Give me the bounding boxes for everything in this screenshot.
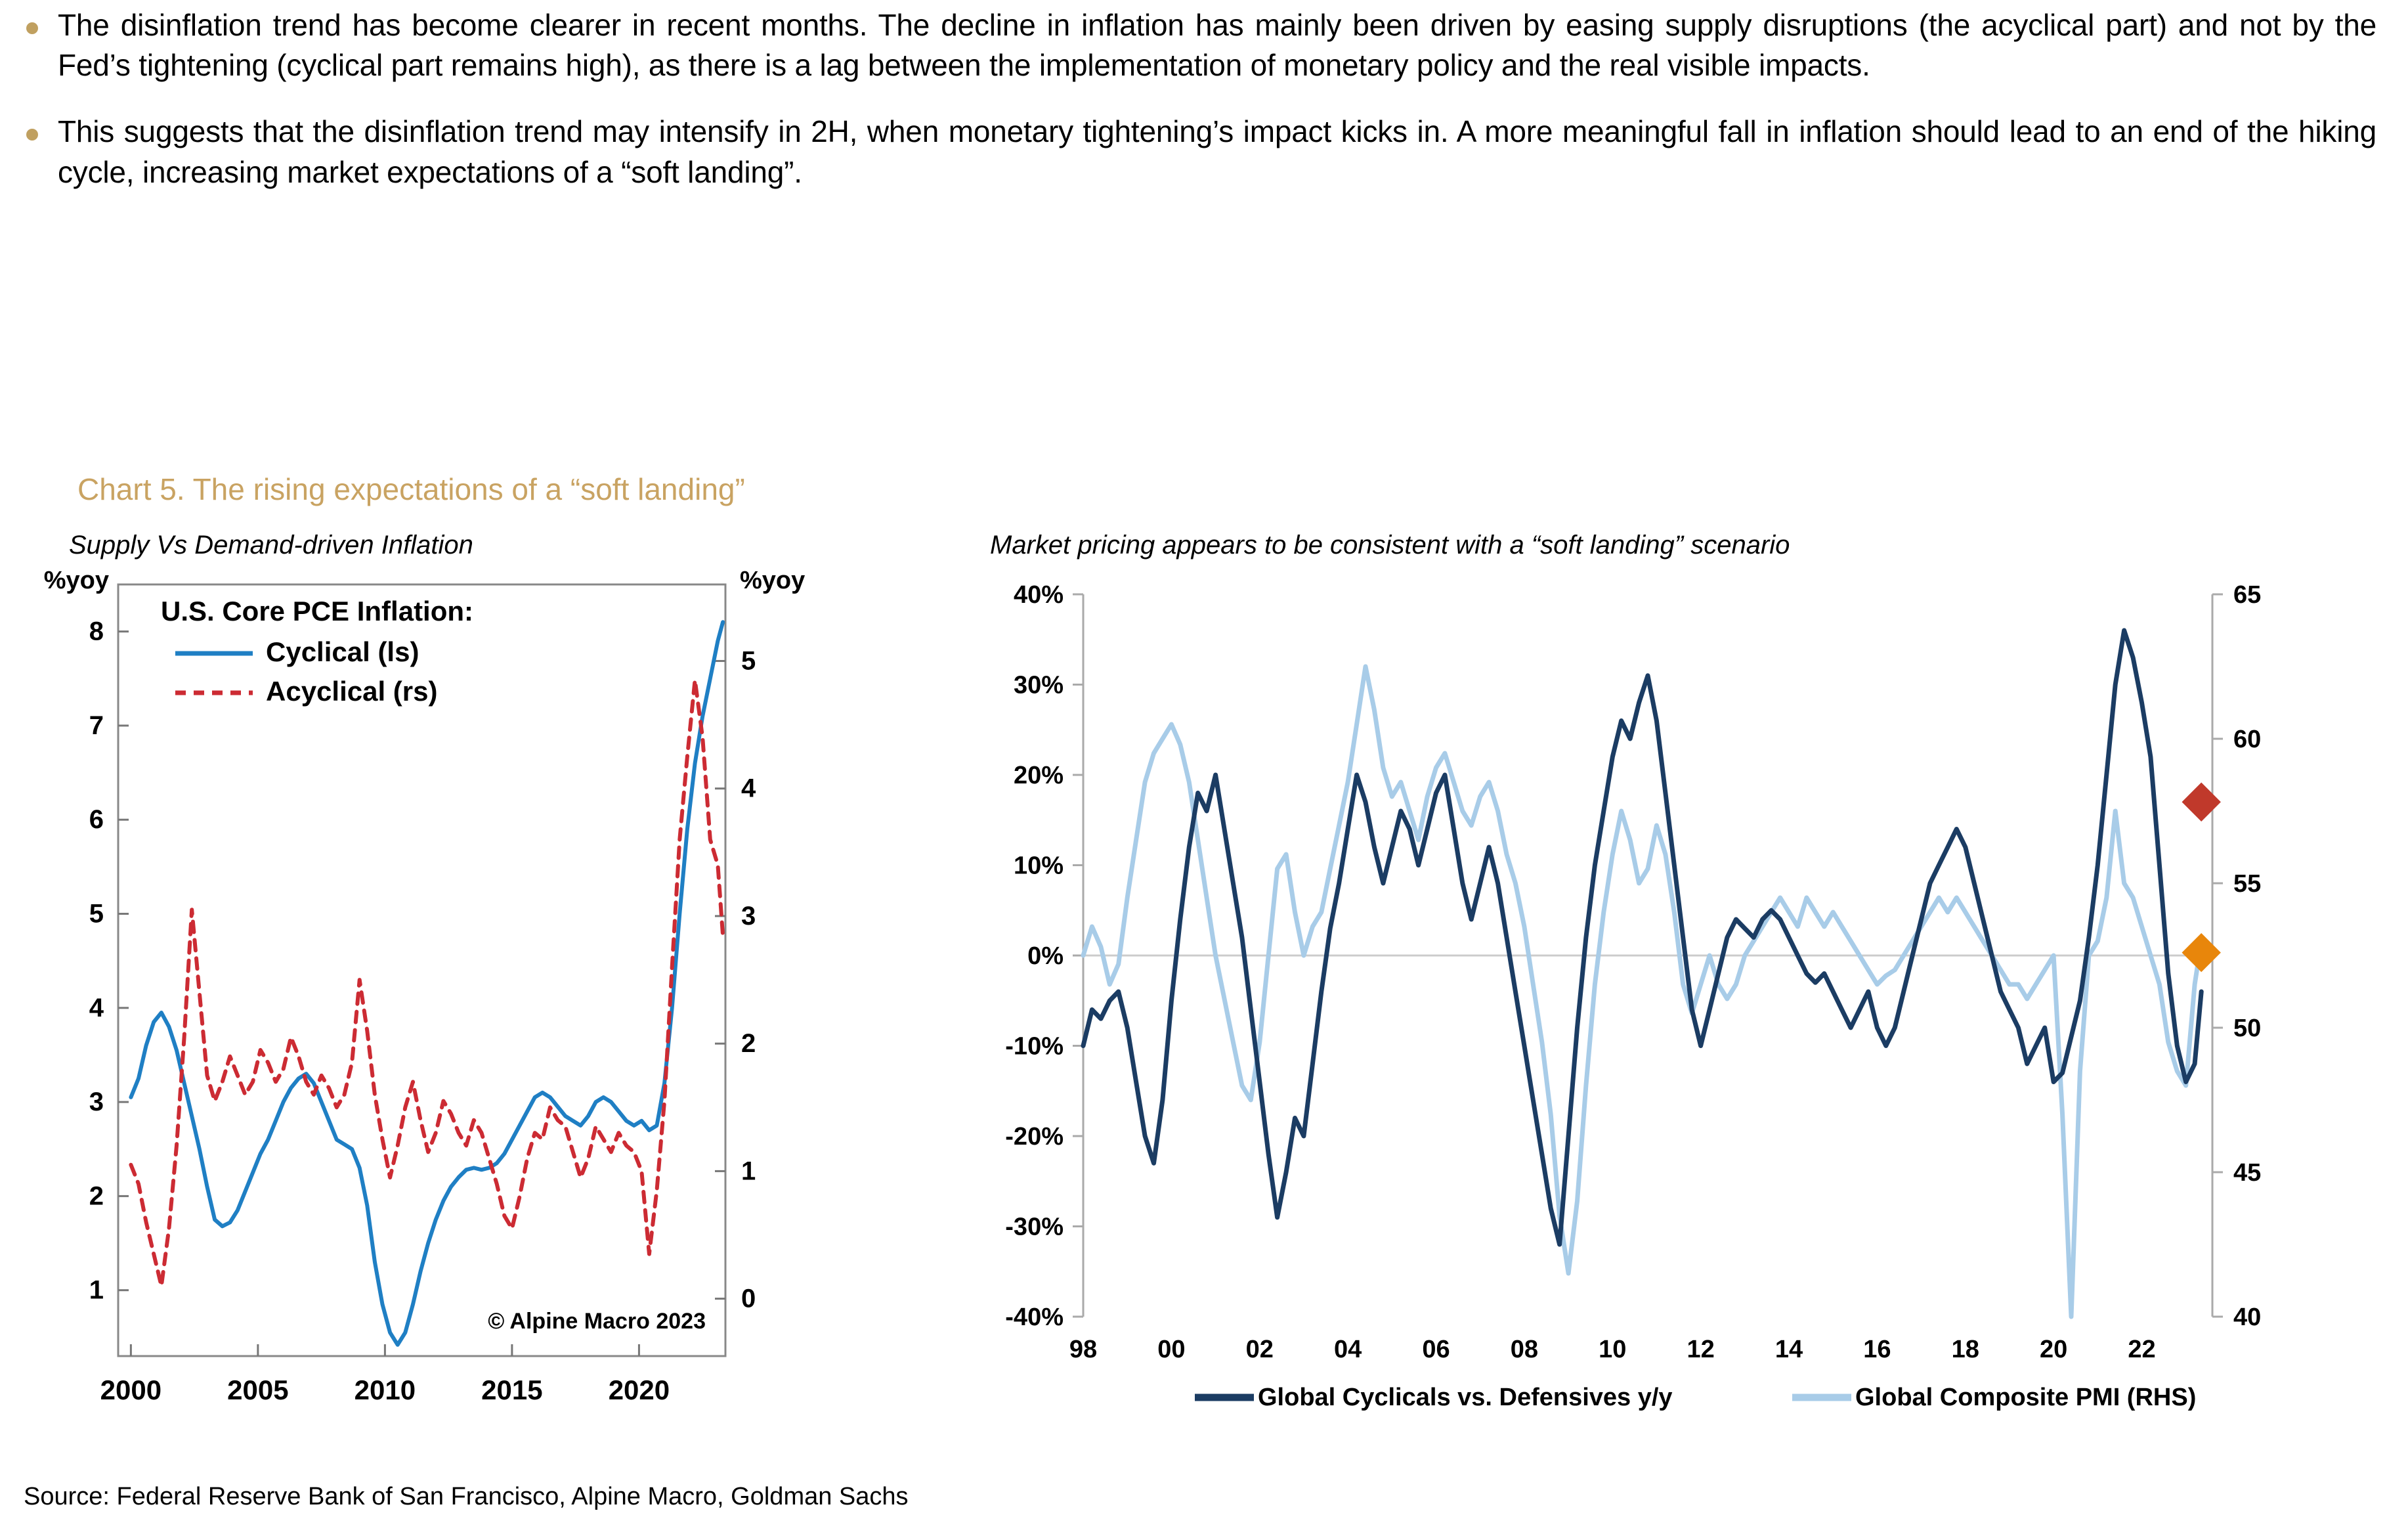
x-axis-tick-label: 10: [1599, 1336, 1626, 1363]
x-axis-tick-label: 2005: [227, 1374, 288, 1405]
x-axis-tick-label: 06: [1422, 1336, 1450, 1363]
legend-label-1: Global Composite PMI (RHS): [1855, 1384, 2196, 1411]
y-axis-tick-label: -40%: [1005, 1304, 1064, 1331]
bullet-text: This suggests that the disinflation tren…: [58, 112, 2376, 192]
y2-axis-tick-label: 1: [741, 1156, 756, 1185]
y-axis-tick-label: 40%: [1014, 581, 1064, 609]
pmi-latest-marker: [2182, 933, 2221, 972]
y2-axis-tick-label: 40: [2233, 1304, 2261, 1331]
y2-axis-tick-label: 55: [2233, 870, 2261, 898]
bullet-text: The disinflation trend has become cleare…: [58, 5, 2376, 85]
legend-label-1: Acyclical (rs): [266, 676, 437, 707]
y2-axis-tick-label: 0: [741, 1284, 756, 1313]
y2-axis-tick-label: 50: [2233, 1015, 2261, 1042]
series-line-1: [1083, 667, 2201, 1317]
y-axis-tick-label: 10%: [1014, 852, 1064, 880]
right-chart: -40%-30%-20%-10%0%10%20%30%40%4045505560…: [919, 578, 2363, 1432]
x-axis-tick-label: 22: [2128, 1336, 2155, 1363]
series-line-0: [1083, 630, 2201, 1244]
x-axis-tick-label: 02: [1246, 1336, 1274, 1363]
y-axis-tick-label: 3: [89, 1087, 104, 1116]
y-axis-tick-label: 1: [89, 1276, 104, 1305]
x-axis-tick-label: 2010: [355, 1374, 416, 1405]
x-axis-tick-label: 2000: [100, 1374, 161, 1405]
y-axis-tick-label: 20%: [1014, 762, 1064, 789]
x-axis-tick-label: 18: [1952, 1336, 1979, 1363]
bullet-marker-icon: [26, 22, 38, 34]
bullet-marker-icon: [26, 129, 38, 141]
y-axis-tick-label: -30%: [1005, 1214, 1064, 1241]
y2-axis-tick-label: 4: [741, 774, 756, 803]
x-axis-tick-label: 04: [1334, 1336, 1362, 1363]
y-axis-tick-label: -20%: [1005, 1123, 1064, 1151]
x-axis-tick-label: 12: [1687, 1336, 1714, 1363]
left-panel-subtitle: Supply Vs Demand-driven Inflation: [69, 531, 473, 560]
x-axis-tick-label: 2020: [609, 1374, 670, 1405]
y2-axis-tick-label: 3: [741, 902, 756, 931]
bullet-list: The disinflation trend has become cleare…: [26, 5, 2376, 219]
y-axis-tick-label: 4: [89, 994, 104, 1022]
y2-axis-unit-label: %yoy: [740, 567, 805, 594]
left-chart: 1234567801234520002005201020152020%yoy%y…: [20, 565, 886, 1445]
y-axis-tick-label: 2: [89, 1181, 104, 1210]
x-axis-tick-label: 14: [1775, 1336, 1803, 1363]
x-axis-tick-label: 16: [1863, 1336, 1891, 1363]
y-axis-tick-label: 7: [89, 711, 104, 740]
y-axis-tick-label: 0%: [1027, 942, 1064, 970]
x-axis-tick-label: 00: [1157, 1336, 1185, 1363]
series-line-1: [131, 680, 723, 1286]
y2-axis-tick-label: 2: [741, 1029, 756, 1058]
legend-title: U.S. Core PCE Inflation:: [161, 596, 473, 626]
chart-title: Chart 5. The rising expectations of a “s…: [77, 472, 745, 507]
x-axis-tick-label: 08: [1511, 1336, 1538, 1363]
y2-axis-tick-label: 5: [741, 647, 756, 676]
y2-axis-tick-label: 65: [2233, 581, 2261, 609]
bullet-item: The disinflation trend has become cleare…: [26, 5, 2376, 85]
y2-axis-tick-label: 60: [2233, 726, 2261, 753]
x-axis-tick-label: 2015: [481, 1374, 542, 1405]
y-axis-tick-label: 5: [89, 900, 104, 929]
x-axis-tick-label: 98: [1069, 1336, 1097, 1363]
y-axis-tick-label: 8: [89, 617, 104, 646]
y-axis-tick-label: 6: [89, 805, 104, 834]
watermark-label: © Alpine Macro 2023: [488, 1309, 706, 1334]
bullet-item: This suggests that the disinflation tren…: [26, 112, 2376, 192]
y-axis-tick-label: 30%: [1014, 672, 1064, 699]
y-axis-unit-label: %yoy: [44, 567, 109, 594]
y-axis-tick-label: -10%: [1005, 1033, 1064, 1061]
y2-axis-tick-label: 45: [2233, 1159, 2261, 1187]
cyclicals-latest-marker: [2182, 783, 2221, 822]
legend-label-0: Cyclical (ls): [266, 636, 419, 667]
right-panel-subtitle: Market pricing appears to be consistent …: [990, 531, 1790, 560]
x-axis-tick-label: 20: [2040, 1336, 2067, 1363]
series-line-0: [131, 622, 723, 1345]
legend-label-0: Global Cyclicals vs. Defensives y/y: [1258, 1384, 1673, 1411]
source-note: Source: Federal Reserve Bank of San Fran…: [24, 1483, 909, 1511]
